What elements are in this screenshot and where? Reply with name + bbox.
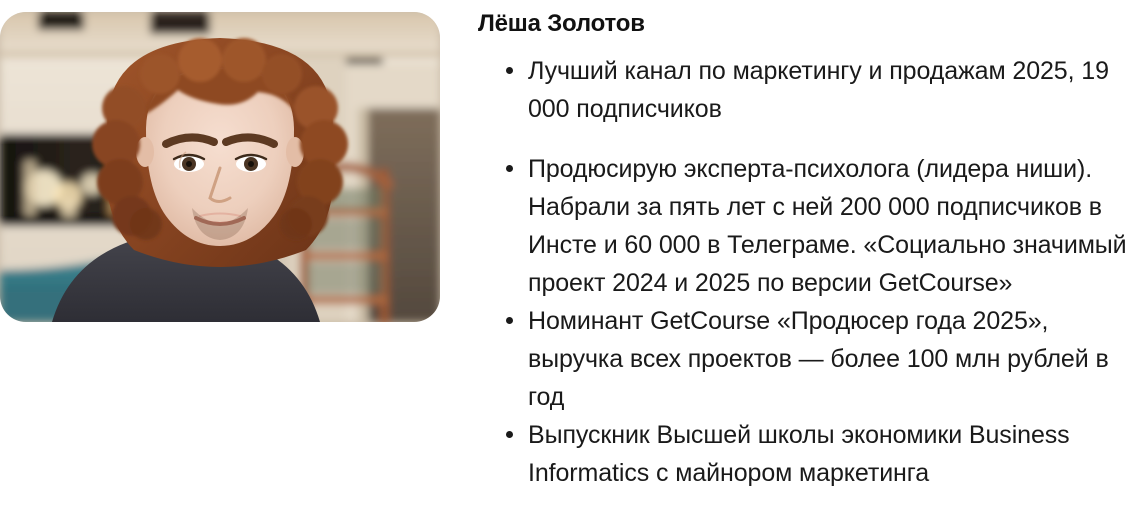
list-item: Продюсирую эксперта-психолога (лидера ни…	[478, 150, 1138, 302]
list-item: Номинант GetCourse «Продюсер года 2025»,…	[478, 302, 1138, 416]
list-item: Лучший канал по маркетингу и продажам 20…	[478, 52, 1138, 128]
bullet-icon	[506, 165, 513, 172]
list-item-text: Лучший канал по маркетингу и продажам 20…	[528, 57, 1109, 123]
bullet-icon	[506, 317, 513, 324]
list-item: Выпускник Высшей школы экономики Busines…	[478, 416, 1138, 492]
profile-card: Лёша Золотов Лучший канал по маркетингу …	[0, 0, 1147, 524]
person-photo-illustration	[0, 12, 440, 322]
list-item-text: Номинант GetCourse «Продюсер года 2025»,…	[528, 307, 1109, 411]
person-info: Лёша Золотов Лучший канал по маркетингу …	[478, 8, 1138, 492]
person-photo	[0, 12, 440, 322]
bullet-icon	[506, 67, 513, 74]
bullet-icon	[506, 431, 513, 438]
person-name: Лёша Золотов	[478, 8, 1138, 40]
list-item-text: Выпускник Высшей школы экономики Busines…	[528, 421, 1070, 487]
list-item-text: Продюсирую эксперта-психолога (лидера ни…	[528, 155, 1127, 297]
person-achievements-list: Лучший канал по маркетингу и продажам 20…	[478, 52, 1138, 492]
